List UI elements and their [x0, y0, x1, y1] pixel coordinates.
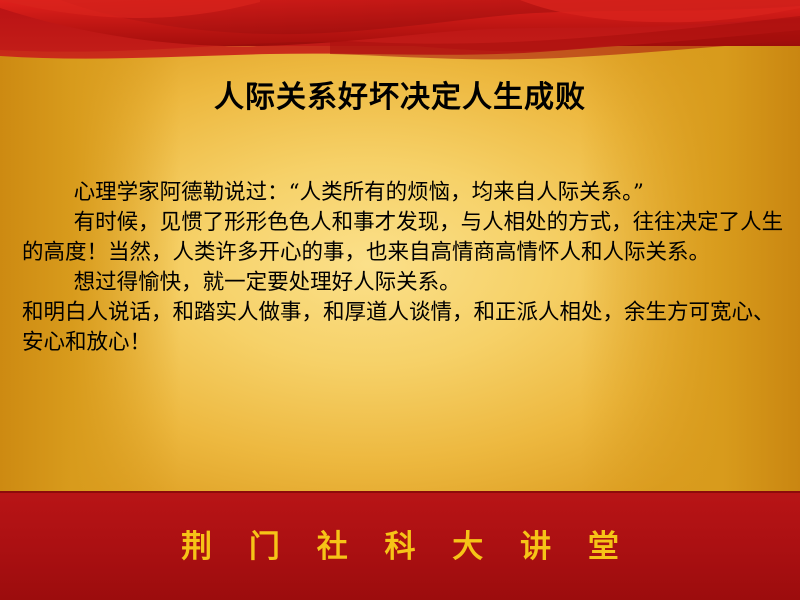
body-paragraph-3: 想过得愉快，就一定要处理好人际关系。: [22, 268, 784, 298]
body-paragraph-2: 有时候，见惯了形形色色人和事才发现，与人相处的方式，往往决定了人生的高度！当然，…: [22, 208, 784, 268]
footer-band: 荆 门 社 科 大 讲 堂: [0, 491, 800, 600]
footer-title: 荆 门 社 科 大 讲 堂: [0, 521, 800, 566]
slide: 人际关系好坏决定人生成败 心理学家阿德勒说过：“人类所有的烦恼，均来自人际关系。…: [0, 0, 800, 600]
body-paragraph-1: 心理学家阿德勒说过：“人类所有的烦恼，均来自人际关系。”: [22, 178, 784, 208]
body-text: 心理学家阿德勒说过：“人类所有的烦恼，均来自人际关系。” 有时候，见惯了形形色色…: [22, 178, 784, 358]
page-title: 人际关系好坏决定人生成败: [0, 72, 800, 116]
body-paragraph-4: 和明白人说话，和踏实人做事，和厚道人谈情，和正派人相处，余生方可宽心、安心和放心…: [22, 298, 784, 358]
red-ribbon-decoration: [0, 0, 800, 72]
ribbon-shapes: [0, 0, 800, 72]
